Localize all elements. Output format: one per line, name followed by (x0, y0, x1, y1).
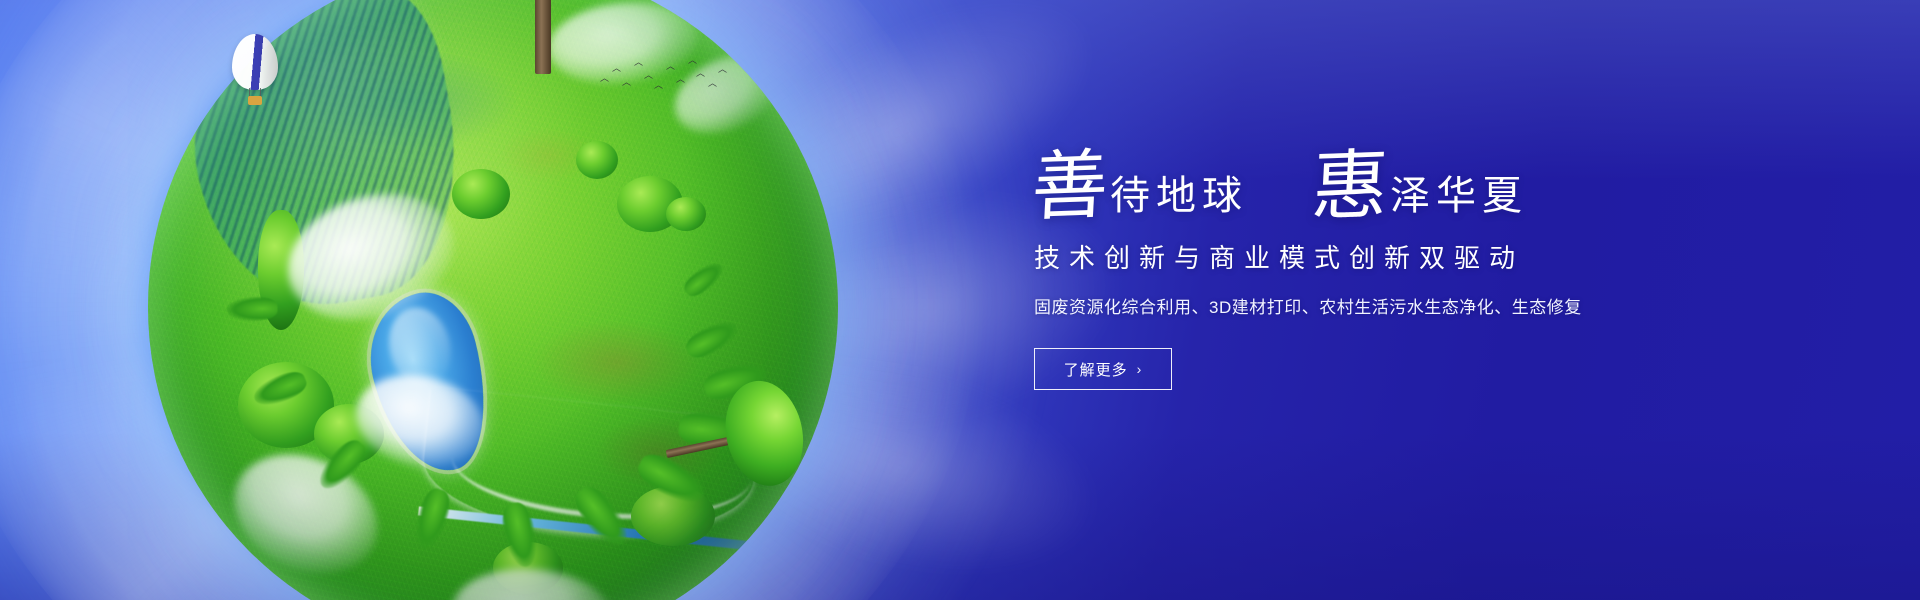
description: 固废资源化综合利用、3D建材打印、农村生活污水生态净化、生态修复 (1034, 293, 1792, 318)
headline-char-shan: 善 (1030, 147, 1110, 226)
headline-text-daidiqiu: 待地球 (1110, 176, 1248, 216)
bird-icon: ︿ (600, 74, 609, 83)
hero-copy: 善 待地球 惠 泽华夏 技术创新与商业模式创新双驱动 固废资源化综合利用、3D建… (1032, 128, 1792, 390)
learn-more-button[interactable]: 了解更多 › (1034, 348, 1172, 390)
subtitle: 技术创新与商业模式创新双驱动 (1034, 238, 1792, 275)
bird-icon: ︿ (644, 71, 653, 80)
bird-icon: ︿ (708, 79, 717, 88)
bird-icon: ︿ (696, 69, 705, 78)
bird-icon: ︿ (718, 65, 727, 74)
learn-more-label: 了解更多 (1064, 359, 1128, 380)
headline-char-hui: 惠 (1310, 147, 1390, 226)
bird-icon: ︿ (654, 81, 663, 90)
bird-icon: ︿ (688, 56, 697, 65)
bird-icon: ︿ (634, 58, 643, 67)
bird-icon: ︿ (666, 62, 675, 71)
hot-air-balloon (232, 34, 278, 108)
bird-icon: ︿ (622, 78, 631, 87)
bird-icon: ︿ (612, 64, 621, 73)
headline: 善 待地球 惠 泽华夏 (1032, 128, 1792, 224)
headline-text-zehuaxia: 泽华夏 (1390, 176, 1528, 216)
balloon-basket (248, 96, 262, 105)
chevron-right-icon: › (1137, 361, 1143, 377)
hero-banner: ︿ ︿ ︿ ︿ ︿ ︿ ︿ ︿ ︿ ︿ ︿ ︿ 善 待地球 惠 泽华夏 技术创新… (0, 0, 1920, 600)
balloon-envelope (232, 34, 278, 90)
bird-flock: ︿ ︿ ︿ ︿ ︿ ︿ ︿ ︿ ︿ ︿ ︿ ︿ (596, 52, 736, 90)
bird-icon: ︿ (676, 75, 685, 84)
